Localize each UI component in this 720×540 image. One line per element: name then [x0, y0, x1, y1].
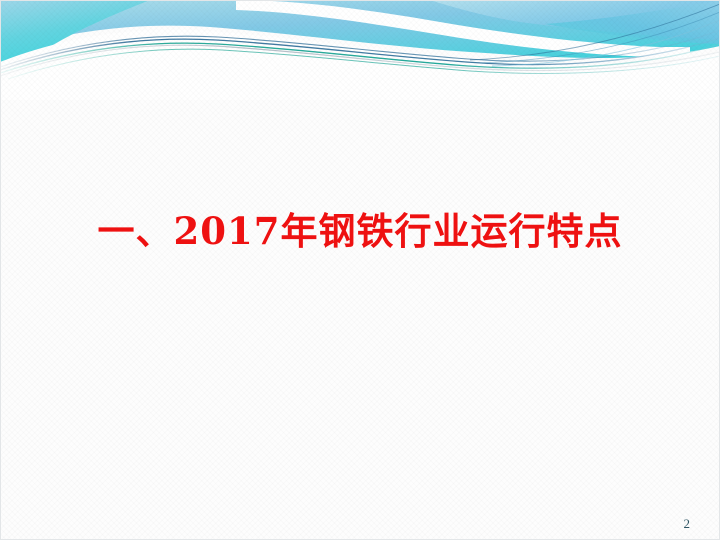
wave-banner-svg	[0, 0, 720, 100]
page-title: 一、2017年钢铁行业运行特点	[0, 206, 720, 256]
wave-banner-graphic	[0, 0, 720, 100]
presentation-slide: 一、2017年钢铁行业运行特点 2	[0, 0, 720, 540]
page-number: 2	[684, 516, 691, 532]
